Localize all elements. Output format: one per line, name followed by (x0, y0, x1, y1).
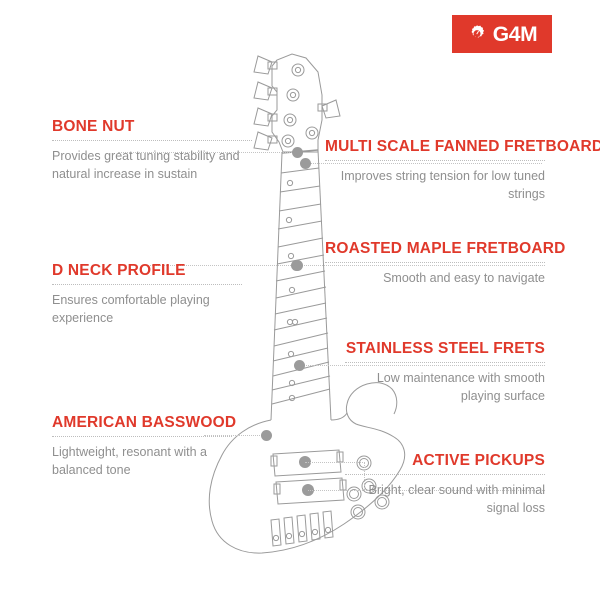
node-american-basswood (261, 430, 272, 441)
callout-description: Lightweight, resonant with a balanced to… (52, 443, 232, 479)
brand-name: G4M (493, 24, 538, 45)
callout-title: BONE NUT (52, 118, 135, 135)
string-posts (282, 64, 318, 147)
node-bone-nut (292, 147, 303, 158)
callout-description: Bright, clear sound with minimal signal … (345, 481, 545, 517)
callout-title: STAINLESS STEEL FRETS (346, 340, 545, 357)
node-roasted-maple (292, 260, 303, 271)
callout-title: MULTI SCALE FANNED FRETBOARD (325, 138, 600, 155)
pickup-bridge (271, 450, 343, 476)
callout-roasted-maple-fretboard: ROASTED MAPLE FRETBOARD Smooth and easy … (325, 240, 545, 287)
fretboard-edge-left (271, 153, 282, 420)
callout-bone-nut: BONE NUT Provides great tuning stability… (52, 118, 252, 183)
headstock-outline (272, 54, 322, 152)
callout-title: AMERICAN BASSWOOD (52, 414, 236, 431)
callout-divider (345, 474, 545, 475)
callout-title: D NECK PROFILE (52, 262, 186, 279)
callout-description: Ensures comfortable playing experience (52, 291, 242, 327)
callout-title: ROASTED MAPLE FRETBOARD (325, 240, 566, 257)
callout-stainless-steel-frets: STAINLESS STEEL FRETS Low maintenance wi… (345, 340, 545, 405)
callout-description: Smooth and easy to navigate (325, 269, 545, 287)
callout-divider (345, 362, 545, 363)
callout-title: ACTIVE PICKUPS (412, 452, 545, 469)
callout-description: Improves string tension for low tuned st… (325, 167, 545, 203)
callout-divider (52, 140, 252, 141)
callout-divider (52, 284, 242, 285)
gear-icon (467, 24, 487, 44)
callout-divider (325, 262, 545, 263)
brand-logo[interactable]: G4M (452, 15, 552, 53)
body-neck-joint (331, 413, 347, 420)
infographic-canvas: BONE NUT Provides great tuning stability… (0, 0, 600, 600)
callout-multi-scale-fanned-fretboard: MULTI SCALE FANNED FRETBOARD Improves st… (325, 138, 545, 203)
callout-description: Low maintenance with smooth playing surf… (345, 369, 545, 405)
bridge-saddles (271, 511, 333, 546)
node-stainless-frets (294, 360, 305, 371)
callout-divider (325, 160, 545, 161)
tuner-pegs-left (254, 56, 277, 150)
callout-american-basswood: AMERICAN BASSWOOD Lightweight, resonant … (52, 414, 232, 479)
tuner-peg-right (318, 100, 340, 118)
pickup-neck (274, 478, 346, 504)
node-multi-scale (300, 158, 311, 169)
callout-description: Provides great tuning stability and natu… (52, 147, 252, 183)
callout-d-neck-profile: D NECK PROFILE Ensures comfortable playi… (52, 262, 242, 327)
callout-divider (52, 436, 232, 437)
callout-active-pickups: ACTIVE PICKUPS Bright, clear sound with … (345, 452, 545, 517)
